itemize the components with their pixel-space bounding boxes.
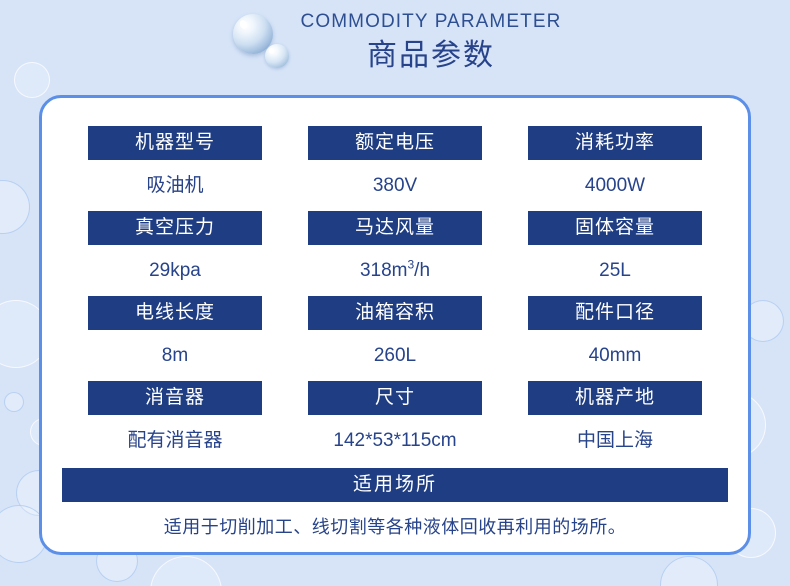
spec-row: 真空压力 29kpa 马达风量 318m3/h 固体容量 25L xyxy=(52,211,738,296)
spec-cell-origin: 机器产地 中国上海 xyxy=(528,381,702,466)
spec-cell-machine-model: 机器型号 吸油机 xyxy=(88,126,262,211)
page-title-english: COMMODITY PARAMETER xyxy=(301,10,562,34)
spec-cell-solid-capacity: 固体容量 25L xyxy=(528,211,702,296)
spec-value: 29kpa xyxy=(88,245,262,296)
spec-cell-muffler: 消音器 配有消音器 xyxy=(88,381,262,466)
spec-cell-rated-voltage: 额定电压 380V xyxy=(308,126,482,211)
spec-label: 尺寸 xyxy=(308,381,482,415)
spec-label: 真空压力 xyxy=(88,211,262,245)
spec-label: 机器型号 xyxy=(88,126,262,160)
spec-value: 配有消音器 xyxy=(88,415,262,466)
spec-value: 4000W xyxy=(528,160,702,211)
water-droplet-small-icon xyxy=(265,44,289,68)
spec-label: 电线长度 xyxy=(88,296,262,330)
spec-cell-motor-air-volume: 马达风量 318m3/h xyxy=(308,211,482,296)
spec-value-number: 318m xyxy=(360,260,408,281)
spec-label: 配件口径 xyxy=(528,296,702,330)
page-title-chinese: 商品参数 xyxy=(367,36,495,75)
water-droplets-icon xyxy=(229,8,295,80)
spec-value: 142*53*115cm xyxy=(308,415,482,466)
spec-label: 额定电压 xyxy=(308,126,482,160)
spec-value: 260L xyxy=(308,330,482,381)
spec-value: 318m3/h xyxy=(308,245,482,296)
page-header: COMMODITY PARAMETER 商品参数 xyxy=(0,0,790,92)
spec-value: 380V xyxy=(308,160,482,211)
spec-label: 消耗功率 xyxy=(528,126,702,160)
spec-value: 吸油机 xyxy=(88,160,262,211)
application-scenarios-row: 适用场所 适用于切削加工、线切割等各种液体回收再利用的场所。 xyxy=(52,468,738,552)
spec-cell-vacuum-pressure: 真空压力 29kpa xyxy=(88,211,262,296)
parameter-panel: 机器型号 吸油机 额定电压 380V 消耗功率 4000W 真空压力 29kpa… xyxy=(39,95,751,555)
spec-row: 消音器 配有消音器 尺寸 142*53*115cm 机器产地 中国上海 xyxy=(52,381,738,466)
spec-row: 电线长度 8m 油箱容积 260L 配件口径 40mm xyxy=(52,296,738,381)
application-scenarios-value: 适用于切削加工、线切割等各种液体回收再利用的场所。 xyxy=(62,502,728,552)
application-scenarios-label: 适用场所 xyxy=(62,468,728,502)
spec-value: 40mm xyxy=(528,330,702,381)
spec-value: 25L xyxy=(528,245,702,296)
spec-label: 油箱容积 xyxy=(308,296,482,330)
spec-label: 消音器 xyxy=(88,381,262,415)
spec-cell-cable-length: 电线长度 8m xyxy=(88,296,262,381)
spec-label: 马达风量 xyxy=(308,211,482,245)
spec-value: 中国上海 xyxy=(528,415,702,466)
spec-value-suffix: /h xyxy=(414,260,430,281)
spec-label: 机器产地 xyxy=(528,381,702,415)
spec-cell-dimensions: 尺寸 142*53*115cm xyxy=(308,381,482,466)
spec-value: 8m xyxy=(88,330,262,381)
spec-label: 固体容量 xyxy=(528,211,702,245)
spec-cell-tank-volume: 油箱容积 260L xyxy=(308,296,482,381)
spec-row: 机器型号 吸油机 额定电压 380V 消耗功率 4000W xyxy=(52,126,738,211)
spec-cell-accessory-diameter: 配件口径 40mm xyxy=(528,296,702,381)
spec-cell-power-consumption: 消耗功率 4000W xyxy=(528,126,702,211)
